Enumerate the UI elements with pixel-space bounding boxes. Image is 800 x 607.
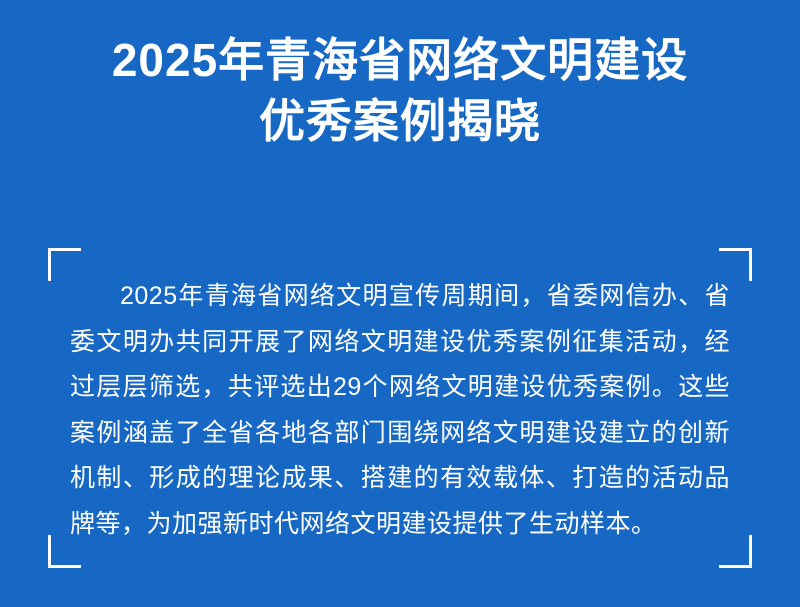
poster-title: 2025年青海省网络文明建设 优秀案例揭晓 xyxy=(0,30,800,151)
body-frame: 2025年青海省网络文明宣传周期间，省委网信办、省委文明办共同开展了网络文明建设… xyxy=(48,248,752,568)
title-line-1: 2025年青海省网络文明建设 xyxy=(0,30,800,91)
poster-canvas: 2025年青海省网络文明建设 优秀案例揭晓 2025年青海省网络文明宣传周期间，… xyxy=(0,0,800,607)
body-paragraph: 2025年青海省网络文明宣传周期间，省委网信办、省委文明办共同开展了网络文明建设… xyxy=(70,274,730,547)
title-line-2: 优秀案例揭晓 xyxy=(0,91,800,152)
